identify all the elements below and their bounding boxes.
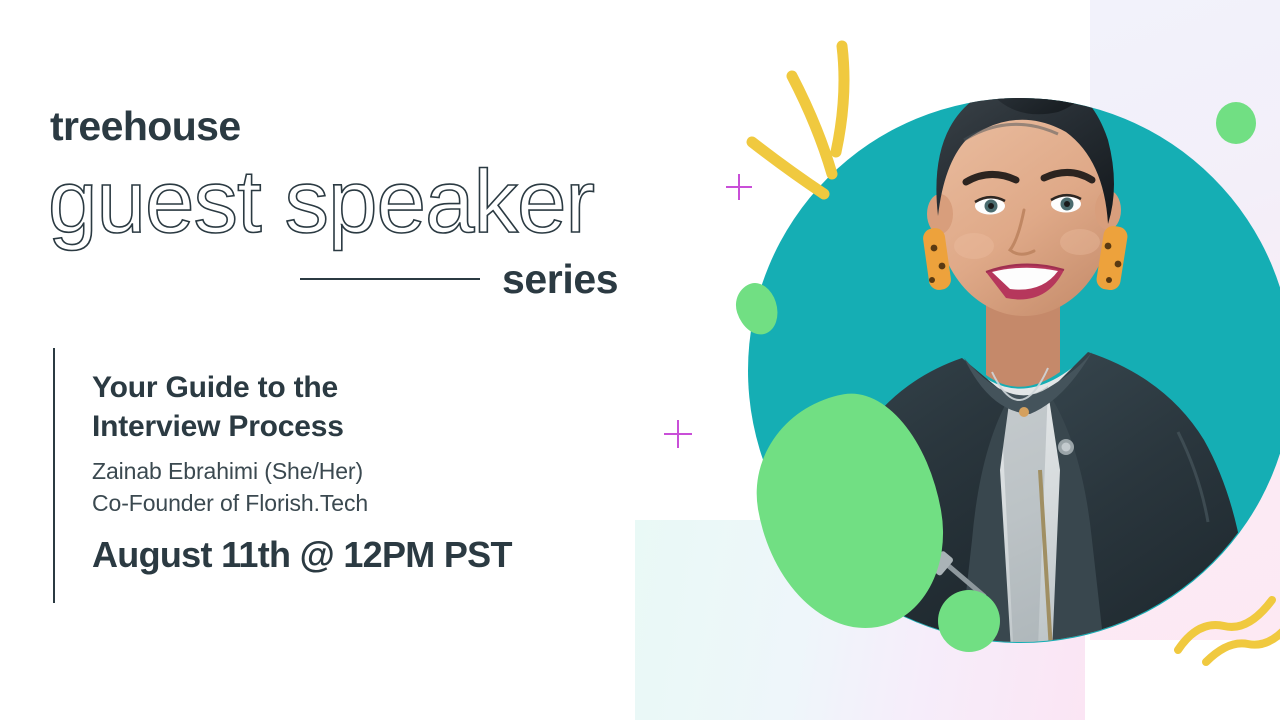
vertical-accent-rule [53, 348, 55, 603]
series-divider-rule [300, 278, 480, 280]
plus-mark-upper-icon [726, 174, 752, 200]
yellow-wave-strokes-icon [1168, 592, 1280, 662]
talk-title-line-2: Interview Process [92, 407, 632, 446]
yellow-burst-strokes-icon [736, 34, 886, 219]
plus-mark-lower-icon [664, 420, 692, 448]
treehouse-logo-wordmark: treehouse [50, 106, 241, 147]
speaker-name: Zainab Ebrahimi (She/Her) [92, 456, 632, 488]
text-content-block: treehouse guest speaker series Your Guid… [0, 0, 660, 720]
headline-guest-speaker: guest speaker [48, 157, 594, 246]
series-word: series [502, 259, 618, 300]
session-details: Your Guide to the Interview Process Zain… [92, 368, 632, 575]
green-blob-round-icon [938, 590, 1000, 652]
series-row: series [300, 255, 630, 303]
talk-title: Your Guide to the Interview Process [92, 368, 632, 446]
speaker-role: Co-Founder of Florish.Tech [92, 488, 632, 520]
talk-title-line-1: Your Guide to the [92, 368, 632, 407]
session-date-time: August 11th @ 12PM PST [92, 535, 632, 575]
promo-slide: treehouse guest speaker series Your Guid… [0, 0, 1280, 720]
